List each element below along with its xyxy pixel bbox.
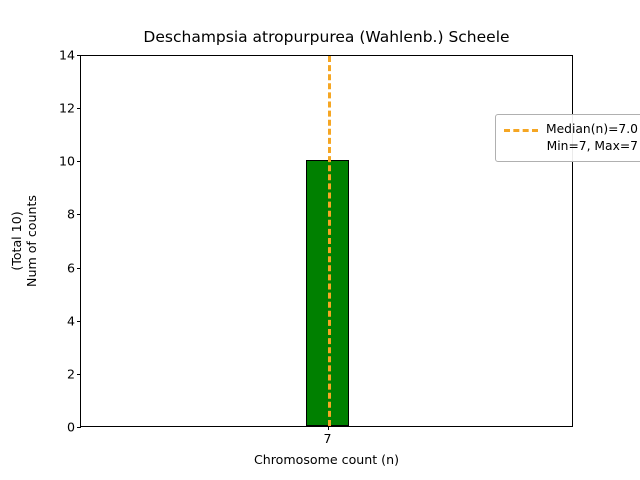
ytick-mark: [77, 268, 81, 269]
x-axis-label: Chromosome count (n): [80, 452, 573, 467]
y-axis-label: (Total 10) Num of counts: [9, 195, 39, 287]
plot-area: 0 2 4 6 8 10 12 14: [80, 55, 573, 427]
ytick-label: 8: [67, 207, 75, 222]
ytick-mark: [77, 427, 81, 428]
ytick-label: 12: [59, 101, 75, 116]
legend-entry-median: Median(n)=7.0 Min=7, Max=7: [504, 121, 638, 155]
ytick-label: 14: [59, 48, 75, 63]
y-axis-label-line-1: Num of counts: [24, 195, 39, 287]
ytick-mark: [77, 321, 81, 322]
y-axis-label-wrap: (Total 10) Num of counts: [0, 55, 48, 427]
chart-title: Deschampsia atropurpurea (Wahlenb.) Sche…: [80, 28, 573, 46]
median-line: [328, 56, 331, 426]
ytick-label: 0: [67, 420, 75, 435]
ytick-mark: [77, 161, 81, 162]
dashed-line-icon: [504, 122, 538, 138]
xtick-label: 7: [323, 431, 331, 446]
chart-figure: Deschampsia atropurpurea (Wahlenb.) Sche…: [0, 0, 640, 480]
ytick-label: 6: [67, 260, 75, 275]
ytick-mark: [77, 55, 81, 56]
ytick-mark: [77, 214, 81, 215]
plot-inner: [81, 56, 572, 426]
ytick-label: 4: [67, 313, 75, 328]
ytick-mark: [77, 108, 81, 109]
xtick-mark: [328, 426, 329, 430]
ytick-label: 10: [59, 154, 75, 169]
legend-line-2: Min=7, Max=7: [546, 138, 638, 155]
legend-entry-text: Median(n)=7.0 Min=7, Max=7: [546, 121, 638, 155]
legend-line-1: Median(n)=7.0: [546, 121, 638, 138]
y-axis-label-line-2: (Total 10): [9, 195, 24, 287]
chart-legend: Median(n)=7.0 Min=7, Max=7: [495, 114, 640, 162]
ytick-label: 2: [67, 366, 75, 381]
ytick-mark: [77, 374, 81, 375]
